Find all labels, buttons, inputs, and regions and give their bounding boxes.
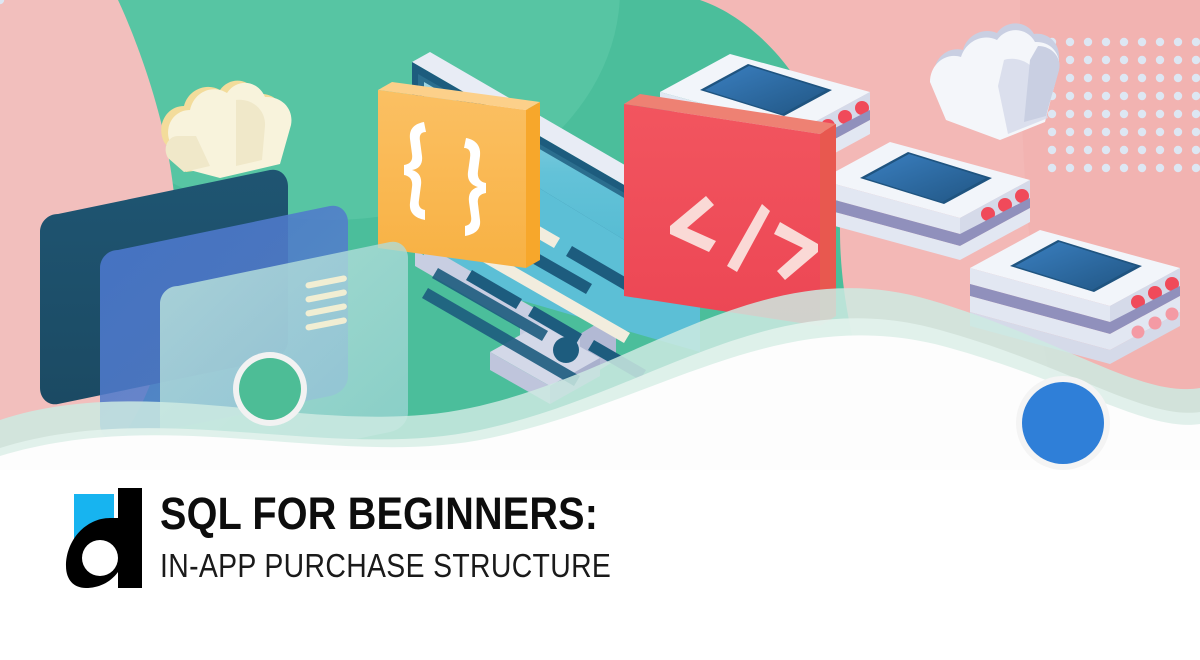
circle-green [233,352,307,426]
server-led [1132,326,1145,339]
page-subtitle: IN-APP PURCHASE STRUCTURE [160,548,611,584]
code-card-tag [624,94,836,326]
brand-logo[interactable] [62,488,146,588]
circle-blue [1016,376,1110,470]
server-led [1166,308,1179,321]
banner: SQL FOR BEGINNERS: IN-APP PURCHASE STRUC… [0,0,1200,660]
code-card-braces [375,82,540,268]
server-led [1149,317,1162,330]
title-group: SQL FOR BEGINNERS: IN-APP PURCHASE STRUC… [160,490,685,584]
hero-illustration [0,0,1200,470]
page-title: SQL FOR BEGINNERS: [160,490,622,538]
title-block: SQL FOR BEGINNERS: IN-APP PURCHASE STRUC… [0,470,1200,660]
logo-counter [82,540,118,576]
